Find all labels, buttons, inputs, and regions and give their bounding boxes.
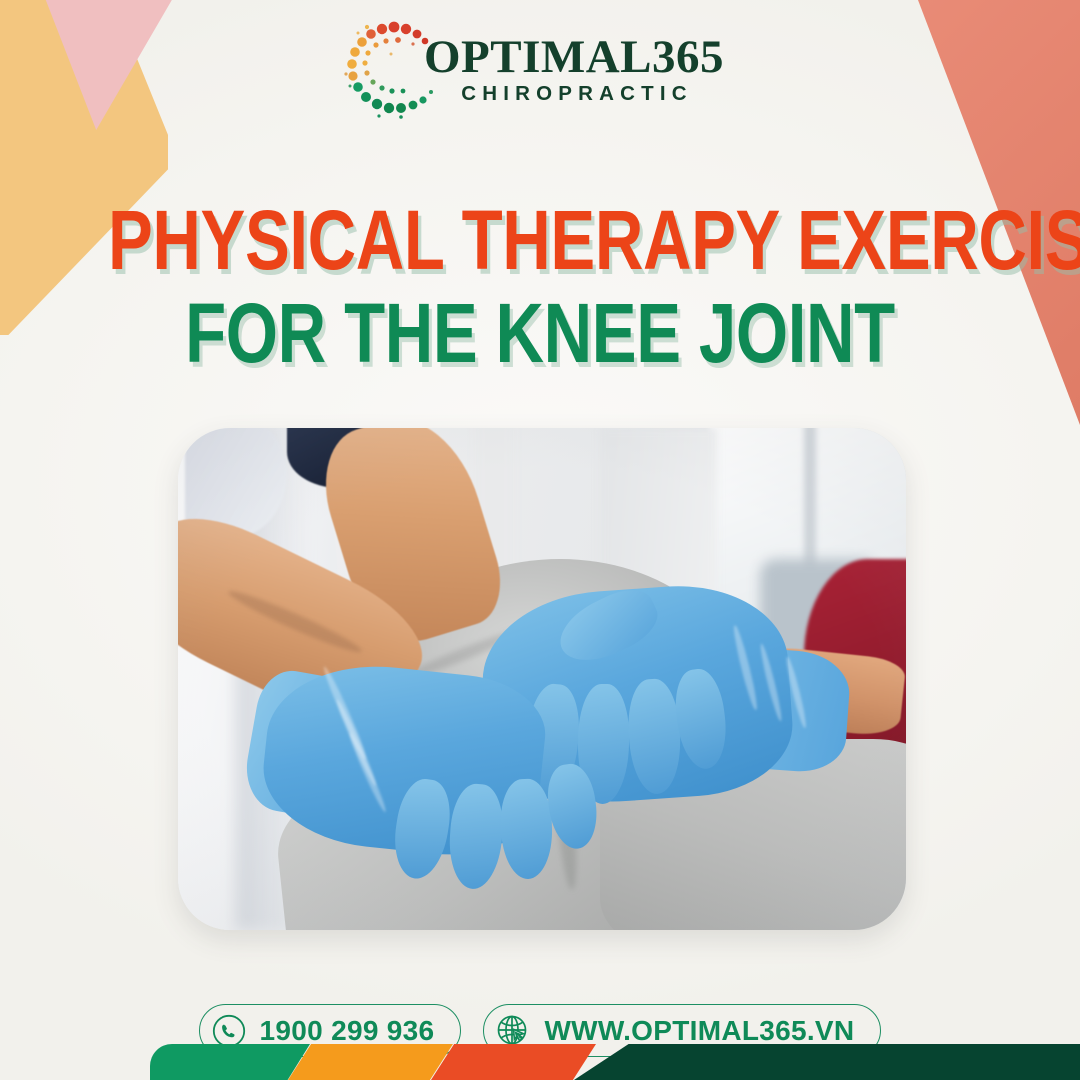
headline-line-2: FOR THE KNEE JOINT [108,289,972,378]
photo-vignette [178,428,906,930]
footer-segment-green [150,1044,310,1080]
footer-color-bar [150,1044,1080,1080]
website-url: WWW.OPTIMAL365.VN [544,1015,854,1047]
logo-wordmark: OPTIMAL365 [424,34,724,80]
headline-line-1: PHYSICAL THERAPY EXERCISES [108,196,972,285]
logo-tagline: CHIROPRACTIC [455,82,693,106]
footer-segment-dark-green [574,1044,1080,1080]
poster-canvas: OPTIMAL365 CHIROPRACTIC PHYSICAL THERAPY… [0,0,1080,1080]
phone-number: 1900 299 936 [260,1015,435,1047]
footer-segment-red [431,1044,596,1080]
brand-logo: OPTIMAL365 CHIROPRACTIC [0,14,1080,126]
page-title: PHYSICAL THERAPY EXERCISES FOR THE KNEE … [0,196,1080,378]
hero-photo [178,428,906,930]
footer-segment-orange [288,1044,453,1080]
